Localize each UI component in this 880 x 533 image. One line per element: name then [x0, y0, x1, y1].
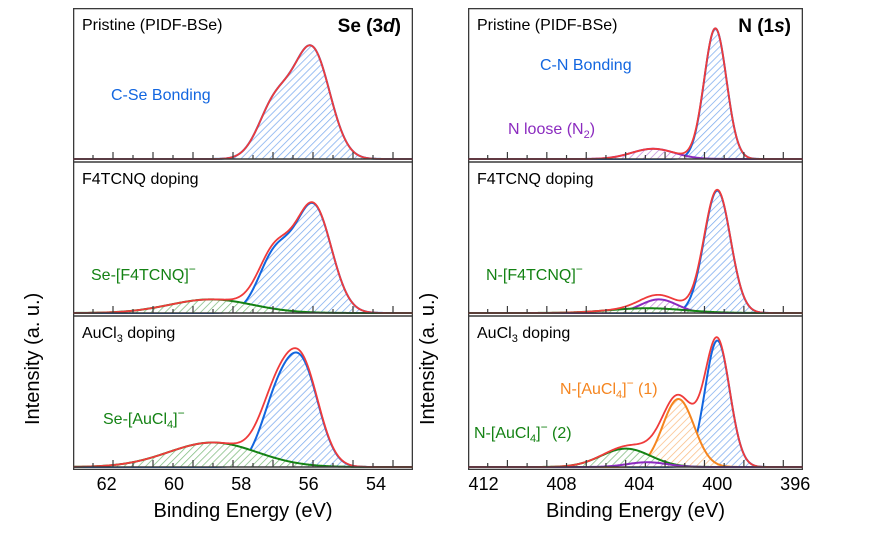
n-spectra-svg: Pristine (PIDF-BSe)N (1s)C-N BondingN lo… [468, 8, 803, 470]
peak-annotation: Se-[AuCl4]− [103, 406, 185, 431]
x-tick-label: 62 [97, 474, 117, 495]
fit-envelope-line [73, 202, 413, 313]
spectrum-panel-n-f4tcnq: F4TCNQ dopingN-[F4TCNQ]− [468, 171, 803, 313]
x-axis-label-right: Binding Energy (eV) [468, 500, 803, 523]
peak-annotation: N loose (N2) [508, 121, 595, 141]
x-tick-label: 400 [702, 474, 732, 495]
panel-row-title: Pristine (PIDF-BSe) [82, 17, 222, 34]
peak-annotation: C-Se Bonding [111, 87, 211, 104]
x-axis-label-left: Binding Energy (eV) [73, 500, 413, 523]
x-tick-label: 58 [231, 474, 251, 495]
x-tick-label: 54 [366, 474, 386, 495]
x-tick-label: 60 [164, 474, 184, 495]
spectrum-panel-se-f4tcnq: F4TCNQ dopingSe-[F4TCNQ]− [73, 171, 413, 313]
x-tick-label: 408 [546, 474, 576, 495]
fit-envelope-line [468, 337, 803, 467]
component-line [468, 28, 803, 159]
x-tick-label: 404 [624, 474, 654, 495]
x-tick-label: 56 [299, 474, 319, 495]
component-fill [468, 341, 803, 467]
peak-annotation: C-N Bonding [540, 57, 632, 74]
se-spectra-svg: Pristine (PIDF-BSe)Se (3d)C-Se BondingF4… [73, 8, 413, 470]
component-line [73, 203, 413, 313]
peak-annotation: N-[AuCl4]− (1) [560, 376, 658, 401]
y-axis-label-right: Intensity (a. u.) [417, 293, 440, 425]
peak-annotation: Se-[F4TCNQ]− [91, 262, 196, 284]
spectrum-panel-n-pristine: Pristine (PIDF-BSe)N (1s)C-N BondingN lo… [468, 16, 803, 159]
component-line [468, 341, 803, 467]
panel-row-title: F4TCNQ doping [477, 171, 594, 188]
component-fill [468, 191, 803, 313]
xps-figure: Intensity (a. u.) Pristine (PIDF-BSe)Se … [0, 0, 880, 533]
spectrum-panel-se-aucl3: AuCl3 dopingSe-[AuCl4]− [73, 325, 413, 467]
se-panel-stack: Pristine (PIDF-BSe)Se (3d)C-Se BondingF4… [73, 8, 413, 470]
n-panel-stack: Pristine (PIDF-BSe)N (1s)C-N BondingN lo… [468, 8, 803, 470]
panel-row-title: AuCl3 doping [477, 325, 570, 345]
component-fill [73, 203, 413, 313]
x-tick-label: 396 [780, 474, 810, 495]
spectrum-panel-n-aucl3: AuCl3 dopingN-[AuCl4]− (1)N-[AuCl4]− (2) [468, 325, 803, 467]
fit-envelope-line [468, 28, 803, 159]
y-axis-label-left: Intensity (a. u.) [22, 293, 45, 425]
component-line [468, 191, 803, 313]
panel-row-title: Pristine (PIDF-BSe) [477, 17, 617, 34]
region-title: Se (3d) [338, 16, 401, 37]
component-fill [468, 28, 803, 159]
panel-row-title: AuCl3 doping [82, 325, 175, 345]
fit-envelope-line [468, 190, 803, 313]
region-title: N (1s) [738, 16, 791, 37]
spectrum-panel-se-pristine: Pristine (PIDF-BSe)Se (3d)C-Se Bonding [73, 16, 413, 159]
x-tick-label: 412 [469, 474, 499, 495]
peak-annotation: N-[F4TCNQ]− [486, 262, 583, 284]
peak-annotation: N-[AuCl4]− (2) [474, 420, 572, 445]
component-fill [468, 149, 803, 159]
panel-row-title: F4TCNQ doping [82, 171, 199, 188]
